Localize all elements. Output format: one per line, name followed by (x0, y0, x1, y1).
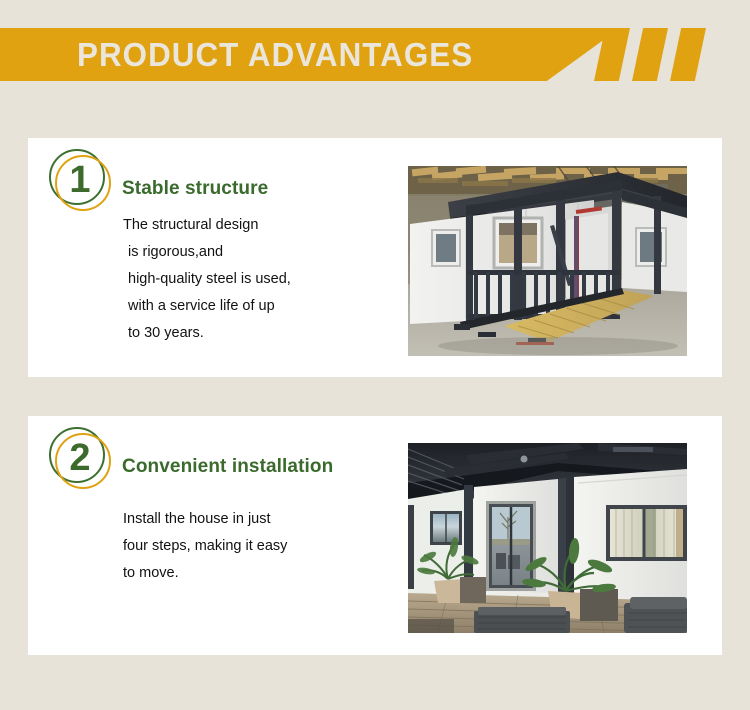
advantage-description-1: The structural design is rigorous,and hi… (123, 212, 403, 347)
advantage-card-1: 1 Stable structure The structural design… (28, 138, 722, 377)
finished-house-porch-photo (408, 443, 687, 633)
advantage-title-2: Convenient installation (122, 456, 333, 478)
advantage-2-line-1: Install the house in just (123, 506, 403, 533)
advantage-1-line-1: The structural design (123, 212, 403, 239)
advantage-1-line-4: with a service life of up (123, 293, 403, 320)
advantage-title-1: Stable structure (122, 178, 268, 200)
advantage-2-line-3: to move. (123, 560, 403, 587)
banner-slash-icon-3 (670, 28, 706, 81)
advantage-1-line-5: to 30 years. (123, 320, 403, 347)
advantage-number-badge-2: 2 (49, 427, 115, 493)
page-header-banner: PRODUCT ADVANTAGES (0, 28, 750, 81)
advantage-number-1: 1 (49, 149, 111, 211)
advantage-2-line-2: four steps, making it easy (123, 533, 403, 560)
advantage-card-2: 2 Convenient installation Install the ho… (28, 416, 722, 655)
advantage-1-line-2: is rigorous,and (123, 239, 403, 266)
banner-slash-icon-2 (632, 28, 668, 81)
container-house-exterior-photo (408, 166, 687, 356)
advantage-1-line-3: high-quality steel is used, (123, 266, 403, 293)
advantage-number-2: 2 (49, 427, 111, 489)
page-title: PRODUCT ADVANTAGES (77, 28, 473, 81)
advantage-number-badge-1: 1 (49, 149, 115, 215)
advantage-description-2: Install the house in just four steps, ma… (123, 506, 403, 587)
